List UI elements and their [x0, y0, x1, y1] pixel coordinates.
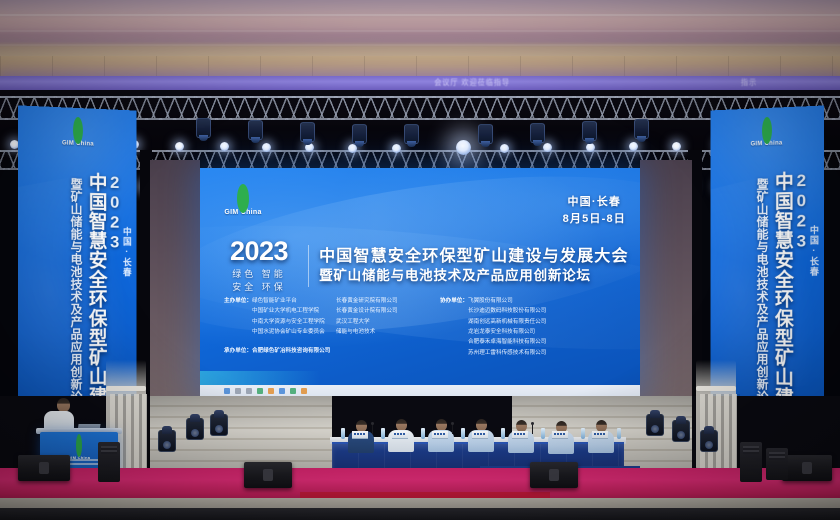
coorg-item: 湖南创远高新机械有限责任公司 — [440, 317, 610, 327]
moving-head-light — [530, 123, 545, 143]
stage-lamp — [500, 144, 509, 153]
host-item: 长春黄金设计院有限公司 — [336, 306, 440, 316]
screen-logo: GIM China — [212, 190, 274, 219]
gim-logo-icon — [76, 434, 82, 457]
moving-head-light — [352, 124, 367, 144]
stage-lamp — [629, 142, 638, 151]
stair-railing-right — [696, 360, 736, 470]
banner-left-subtitle: 暨矿山储能与电池技术及产品应用创新论坛 — [70, 178, 82, 416]
taskbar-app-icon[interactable] — [268, 388, 274, 394]
screen-slogan-line1: 绿色 智能 — [230, 268, 288, 281]
taskbar-app-icon[interactable] — [290, 388, 296, 394]
coorganizer-column: 协办单位：飞翼股份有限公司 长沙迪迈数码科技股份有限公司 湖南创远高新机械有限责… — [440, 296, 610, 358]
floor-moving-light — [158, 430, 176, 452]
taskbar-app-icon[interactable] — [279, 388, 285, 394]
water-bottle — [421, 428, 425, 439]
name-placard — [592, 431, 608, 439]
floor-monitor-speaker — [782, 455, 832, 481]
water-bottle — [617, 428, 621, 439]
organizer-label: 承办单位： — [224, 348, 252, 354]
screen-dates: 8月5日-8日 — [563, 211, 626, 228]
taskbar-start-icon[interactable] — [224, 388, 230, 394]
screen-title-row: 2023 绿色 智能 安全 环保 中国智慧安全环保型矿山建设与发展大会 暨矿山储… — [230, 238, 622, 294]
table-microphone — [372, 424, 373, 434]
speaker-head — [57, 398, 70, 412]
name-placard — [552, 431, 568, 439]
table-microphone — [532, 424, 533, 434]
banner-right-year: 2023 — [793, 171, 810, 252]
host-label: 主办单位： — [224, 298, 252, 304]
coorg-label-row: 协办单位：飞翼股份有限公司 — [440, 296, 610, 306]
banner-left-year: 2023 — [106, 173, 123, 253]
screen-location-block: 中国·长春 8月5日-8日 — [563, 194, 626, 228]
taskbar-app-icon[interactable] — [246, 388, 252, 394]
stage-lamp — [392, 144, 401, 153]
moving-head-light — [300, 122, 315, 142]
stage-lamp — [586, 143, 595, 152]
hall-led-text-strip: 会议厅 欢迎莅临指导 指示 — [0, 76, 840, 90]
moving-head-light — [634, 119, 649, 139]
screen-desktop-accent — [200, 371, 320, 385]
floor-monitor-speaker — [530, 462, 578, 488]
organizer-row: 承办单位：合肥绿色矿冶科技咨询有限公司 — [224, 346, 330, 354]
coorganizer-label: 协办单位： — [440, 298, 468, 304]
moving-head-light — [196, 118, 211, 138]
host-item: 武汉工程大学 — [336, 317, 440, 327]
table-microphone — [452, 424, 453, 434]
water-bottle — [581, 428, 585, 439]
floor-moving-light — [646, 414, 664, 436]
host-item: 中南大学资源与安全工程学院 — [224, 317, 336, 327]
host-item: 中国水泥协会矿山专业委员会 — [224, 327, 336, 337]
gim-logo-icon — [73, 117, 83, 144]
banner-right-city: 中国·长春 — [809, 225, 818, 277]
screen-year: 2023 — [230, 238, 288, 265]
windows-taskbar — [200, 385, 640, 396]
water-bottle — [381, 428, 385, 439]
screen-title-primary: 中国智慧安全环保型矿山建设与发展大会 — [319, 247, 629, 268]
name-placard — [352, 431, 368, 439]
moving-head-light — [404, 124, 419, 144]
banner-right-subtitle: 暨矿山储能与电池技术及产品应用创新论坛 — [756, 178, 768, 416]
moving-head-light — [248, 120, 263, 140]
speaker-stack — [98, 442, 120, 482]
coorg-item: 长沙迪迈数码科技股份有限公司 — [440, 306, 610, 316]
gim-logo-icon — [237, 184, 249, 213]
led-strip-message-right: 指示 — [741, 77, 757, 88]
coorg-item: 苏州理工雷科传感技术有限公司 — [440, 348, 610, 358]
name-placard — [432, 431, 448, 439]
floor-moving-light — [700, 430, 718, 452]
hall-ceiling — [0, 0, 840, 56]
floor-monitor-speaker — [18, 455, 70, 481]
coorg-item: 飞翼股份有限公司 — [468, 298, 513, 304]
host-item: 储能与电池技术 — [336, 327, 440, 337]
title-divider — [308, 245, 309, 287]
name-placard — [392, 431, 408, 439]
stage-lamp — [543, 143, 552, 152]
screen-location: 中国·长春 — [563, 194, 626, 211]
stage-lamp — [220, 142, 229, 151]
stage-lamp — [175, 142, 184, 151]
name-placard — [512, 431, 528, 439]
host-item: 长春黄金研究院有限公司 — [336, 296, 440, 306]
banner-left-logo: GIM China — [51, 121, 104, 151]
stage-apron-shadow — [0, 508, 840, 520]
banner-left-city: 中国·长春 — [122, 227, 131, 278]
water-bottle — [461, 428, 465, 439]
stage-lamp — [672, 142, 681, 151]
water-bottle — [341, 428, 345, 439]
organizer-name: 合肥绿色矿冶科技咨询有限公司 — [252, 348, 330, 354]
floor-moving-light — [672, 420, 690, 442]
coorg-item: 合肥泰禾卓海智能科技有限公司 — [440, 337, 610, 347]
floor-moving-light — [186, 418, 204, 440]
screen-titles: 中国智慧安全环保型矿山建设与发展大会 暨矿山储能与电池技术及产品应用创新论坛 — [319, 247, 629, 286]
moving-head-light — [582, 121, 597, 141]
taskbar-app-icon[interactable] — [257, 388, 263, 394]
screen-slogan: 绿色 智能 安全 环保 — [230, 268, 288, 294]
stage-lamp-bright — [456, 140, 471, 155]
led-strip-message: 会议厅 欢迎莅临指导 — [434, 77, 510, 88]
host-item: 中国矿业大学机电工程学院 — [224, 306, 336, 316]
taskbar-search-icon[interactable] — [235, 388, 241, 394]
screen-slogan-line2: 安全 环保 — [230, 281, 288, 294]
screen-title-secondary: 暨矿山储能与电池技术及产品应用创新论坛 — [319, 267, 629, 285]
floor-monitor-speaker — [244, 462, 292, 488]
taskbar-app-icon[interactable] — [301, 388, 307, 394]
ceiling-cornice — [0, 56, 840, 78]
name-placard — [472, 431, 488, 439]
speaker-stack — [766, 448, 788, 480]
conference-stage-photo: 会议厅 欢迎莅临指导 指示 — [0, 0, 840, 520]
coorg-item: 龙岩龙泰安全科技有限公司 — [440, 327, 610, 337]
moving-head-light — [478, 124, 493, 144]
main-led-screen: GIM China 中国·长春 8月5日-8日 2023 绿色 智能 安全 环保… — [200, 168, 640, 396]
speaker-stack — [740, 442, 762, 482]
screen-year-block: 2023 绿色 智能 安全 环保 — [230, 238, 298, 294]
host-label-row: 主办单位：绿色智能矿业平台 — [224, 296, 336, 306]
water-bottle — [501, 428, 505, 439]
host-column-2: 长春黄金研究院有限公司 长春黄金设计院有限公司 武汉工程大学 储能与电池技术 — [336, 296, 440, 358]
water-bottle — [541, 428, 545, 439]
stage-lamp — [262, 143, 271, 152]
banner-right-logo: GIM China — [740, 121, 793, 151]
floor-moving-light — [210, 414, 228, 436]
host-item: 绿色智能矿业平台 — [252, 298, 297, 304]
